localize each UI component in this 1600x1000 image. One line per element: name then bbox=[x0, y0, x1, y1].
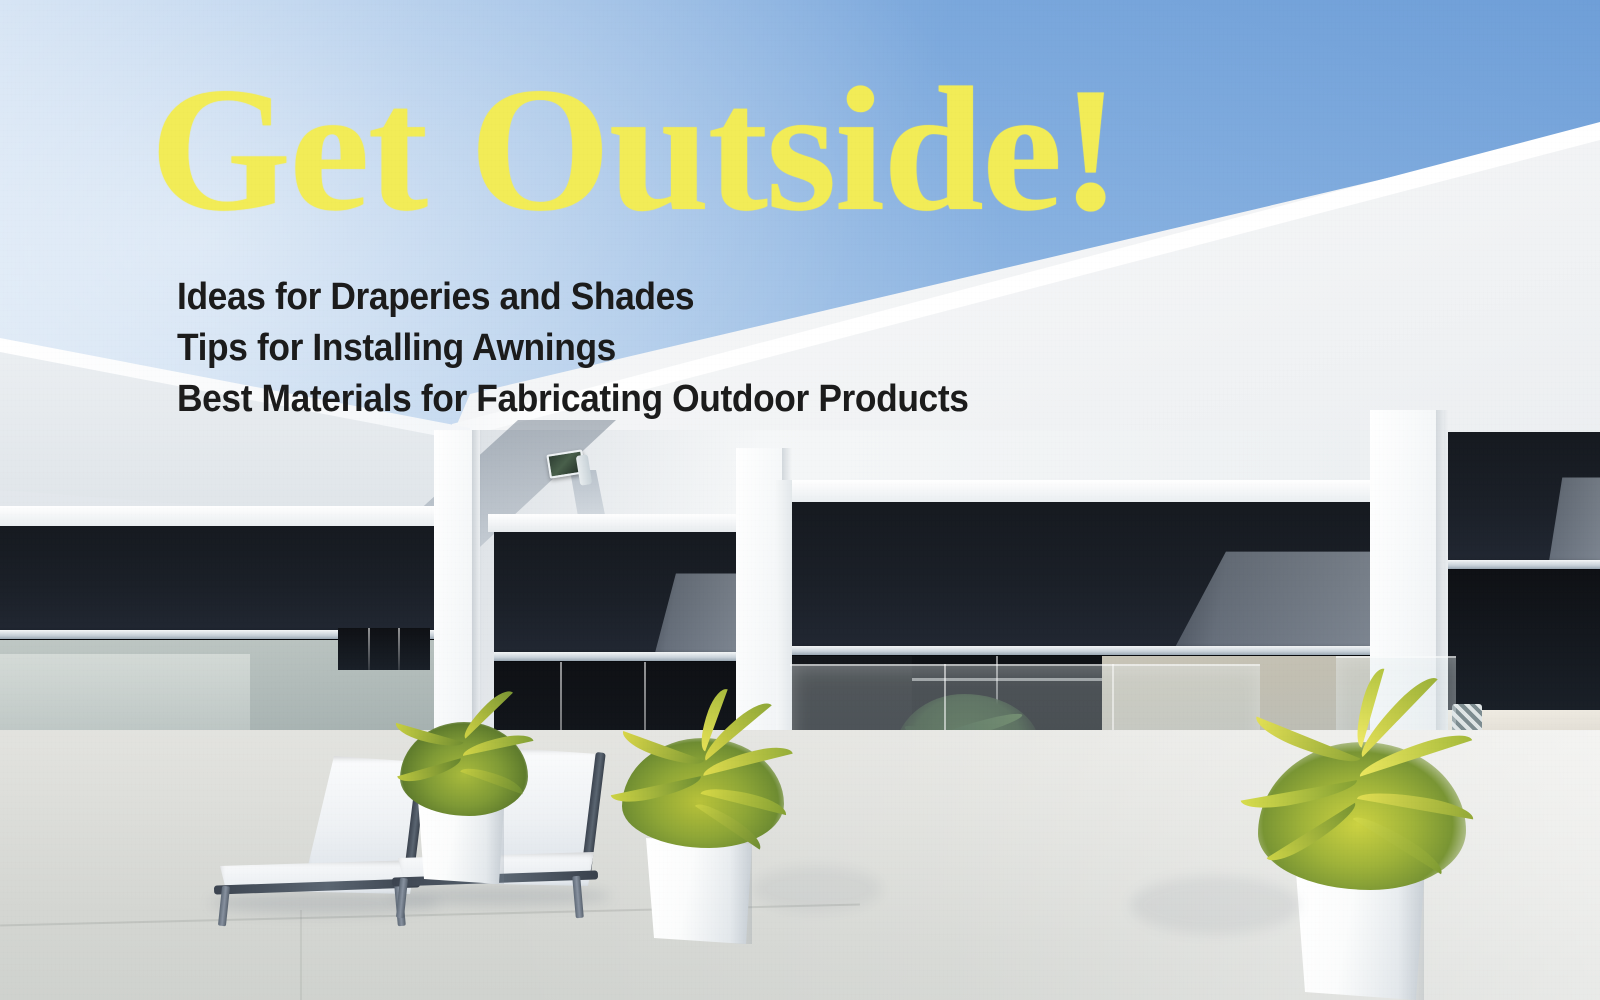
magazine-cover: Get Outside! Ideas for Draperies and Sha… bbox=[0, 0, 1600, 1000]
palm-left bbox=[388, 712, 538, 822]
roller-shade-center-bottom-bar bbox=[494, 652, 736, 661]
glass-wall-right bbox=[1448, 570, 1600, 710]
bay-center-head-trim bbox=[488, 514, 742, 532]
transom-mullion-1 bbox=[368, 628, 370, 670]
bay-left-head-trim bbox=[0, 506, 468, 526]
frond-shadow-on-wall bbox=[1130, 876, 1300, 934]
palm-center bbox=[606, 724, 796, 854]
transom-mullion-2 bbox=[398, 628, 400, 670]
roller-shade-main-bottom-bar bbox=[790, 646, 1370, 655]
cover-headline: Get Outside! bbox=[150, 68, 1221, 232]
frond-shadow-center-wall bbox=[752, 866, 882, 912]
deck-line-2: Tips for Installing Awnings bbox=[177, 323, 1088, 374]
roller-shade-right-bottom-bar bbox=[1448, 560, 1600, 569]
cover-deck-lines: Ideas for Draperies and Shades Tips for … bbox=[177, 272, 1157, 425]
roller-shade-left bbox=[0, 524, 460, 636]
deck-line-1: Ideas for Draperies and Shades bbox=[177, 272, 1088, 323]
transom-window-left bbox=[338, 628, 430, 670]
palm-right bbox=[1236, 724, 1486, 904]
deck-line-3: Best Materials for Fabricating Outdoor P… bbox=[177, 374, 1088, 425]
bay-main-head-trim bbox=[782, 480, 1378, 502]
